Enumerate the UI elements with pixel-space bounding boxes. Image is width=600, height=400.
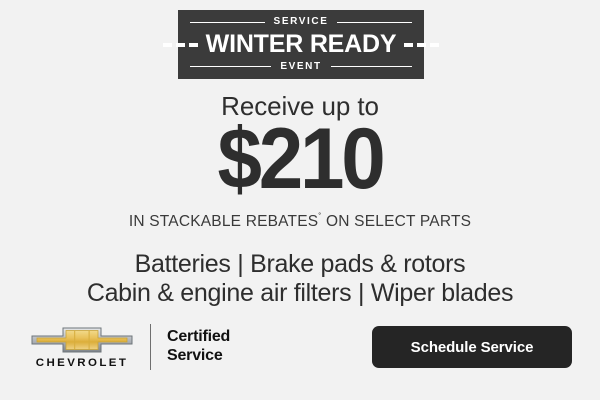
brand-lockup: CHEVROLET Certified Service	[28, 316, 230, 378]
badge-kicker-top-row: SERVICE	[178, 17, 424, 27]
rebates-text-after: ON SELECT PARTS	[322, 213, 472, 230]
offer-amount: $210	[21, 116, 579, 202]
certified-service-label: Certified Service	[167, 328, 230, 366]
ad-footer: CHEVROLET Certified Service Schedule Ser…	[28, 316, 572, 378]
event-badge: SERVICE WINTER READY EVENT	[178, 10, 424, 79]
promotional-ad: SERVICE WINTER READY EVENT Receive up to…	[0, 0, 600, 400]
certified-line-2: Service	[167, 347, 230, 366]
schedule-service-button[interactable]: Schedule Service	[372, 326, 572, 368]
brand-divider	[150, 324, 151, 370]
chevrolet-logo: CHEVROLET	[28, 325, 136, 370]
badge-kicker-service: SERVICE	[265, 17, 338, 27]
chevrolet-bowtie-icon	[30, 325, 134, 355]
certified-line-1: Certified	[167, 328, 230, 347]
offer-rebates-line: IN STACKABLE REBATES˚ ON SELECT PARTS	[0, 214, 600, 230]
product-list-line-2: Cabin & engine air filters | Wiper blade…	[0, 279, 600, 308]
badge-rule-left-bottom	[190, 66, 271, 67]
badge-kicker-bottom-row: EVENT	[178, 62, 424, 72]
badge-rule-left	[190, 22, 265, 23]
badge-kicker-event: EVENT	[271, 62, 330, 72]
rebates-text-before: IN STACKABLE REBATES	[129, 213, 318, 230]
badge-rule-right-bottom	[331, 66, 412, 67]
badge-dashes-right	[396, 43, 447, 47]
badge-rule-right	[337, 22, 412, 23]
chevrolet-wordmark: CHEVROLET	[36, 358, 129, 369]
product-list: Batteries | Brake pads & rotors Cabin & …	[0, 250, 600, 308]
badge-dashes-left	[155, 43, 206, 47]
product-list-line-1: Batteries | Brake pads & rotors	[0, 250, 600, 279]
badge-title: WINTER READY	[206, 31, 397, 57]
badge-title-row: WINTER READY	[178, 27, 424, 61]
